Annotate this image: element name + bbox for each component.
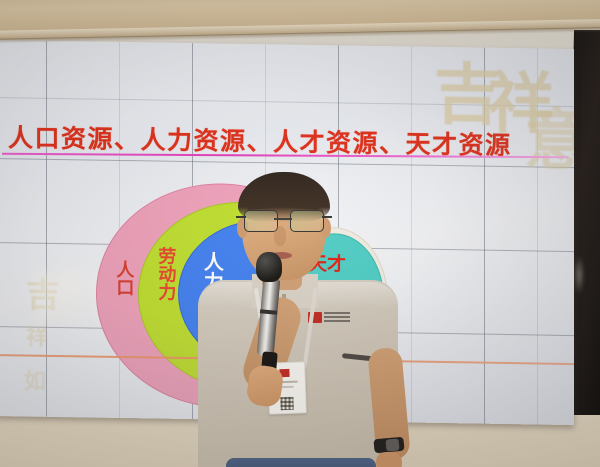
glasses-temple-left — [236, 216, 246, 218]
glasses-bridge — [274, 218, 292, 220]
side-wall-glare — [574, 255, 584, 295]
presenter-hand-left — [376, 452, 402, 467]
shirt-logo-text — [324, 312, 350, 322]
nose — [274, 226, 286, 246]
microphone-head — [256, 252, 282, 282]
glasses-lens-right — [290, 210, 324, 232]
badge-qr-icon — [280, 397, 293, 410]
wristwatch-face — [386, 438, 400, 451]
glasses-lens-left — [244, 210, 278, 232]
glasses-temple-right — [322, 216, 332, 218]
screenshot-root: 吉 祥 意 吉 祥 如 人口资源、人力资源、人才资源、天才资源 人口 劳动力 — [0, 0, 600, 467]
presenter — [190, 170, 420, 467]
presenter-trousers — [226, 458, 376, 467]
